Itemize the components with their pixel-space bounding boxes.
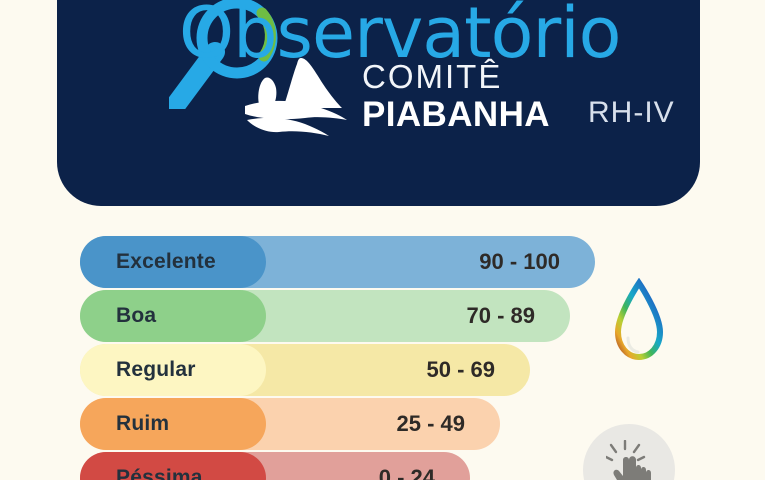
rating-label: Boa (116, 290, 156, 342)
committee-name: COMITÊ PIABANHA (362, 60, 550, 132)
rating-range: 25 - 49 (397, 398, 466, 450)
region-code-label: RH-IV (588, 96, 675, 130)
pointing-hand-click-icon[interactable] (606, 440, 656, 480)
header-panel: Observatório COMITÊ PIABANHA RH-IV (57, 0, 700, 206)
rating-range: 70 - 89 (467, 290, 536, 342)
rating-label: Excelente (116, 236, 216, 288)
committee-line1: COMITÊ (362, 60, 550, 93)
rating-label: Regular (116, 344, 196, 396)
rating-label: Péssima (116, 452, 203, 480)
mountain-wave-logo-icon (243, 54, 355, 138)
rating-pill (80, 290, 266, 342)
rating-range: 50 - 69 (427, 344, 496, 396)
rating-pill (80, 398, 266, 450)
infographic-page: Observatório COMITÊ PIABANHA RH-IV Excel… (0, 0, 765, 480)
rating-label: Ruim (116, 398, 169, 450)
rating-range: 0 - 24 (379, 452, 435, 480)
water-drop-rainbow-icon (608, 278, 670, 364)
rating-row[interactable]: Excelente90 - 100 (80, 236, 595, 288)
rating-range: 90 - 100 (479, 236, 560, 288)
rating-row[interactable]: Boa70 - 89 (80, 290, 570, 342)
rating-row[interactable]: Ruim25 - 49 (80, 398, 500, 450)
rating-row[interactable]: Péssima0 - 24 (80, 452, 470, 480)
committee-line2: PIABANHA (362, 97, 550, 132)
rating-row[interactable]: Regular50 - 69 (80, 344, 530, 396)
